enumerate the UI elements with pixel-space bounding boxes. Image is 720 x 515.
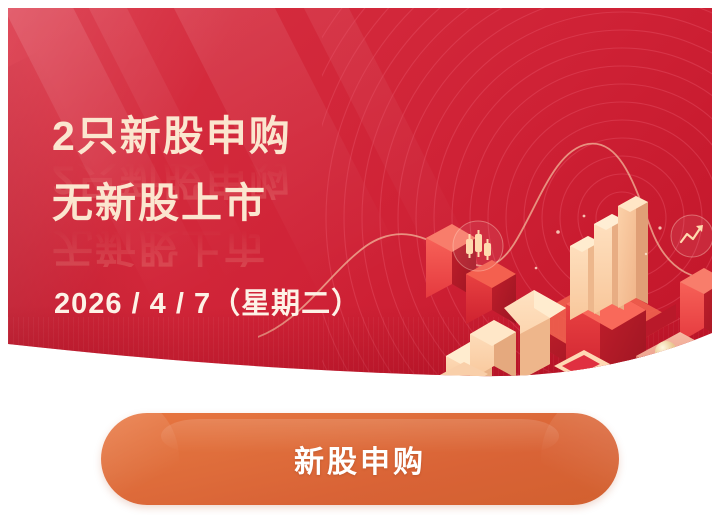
promo-banner-card: 2只新股申购 2只新股申购 无新股上市 无新股上市 2026 / 4 / 7（星…: [0, 0, 720, 515]
banner-background: 2只新股申购 2只新股申购 无新股上市 无新股上市 2026 / 4 / 7（星…: [8, 8, 712, 391]
coin-platform: [636, 332, 712, 390]
subscribe-new-stock-button[interactable]: 新股申购: [101, 413, 619, 505]
headline-line-2: 无新股上市 无新股上市: [52, 183, 472, 224]
subscribe-button-label: 新股申购: [101, 413, 619, 505]
headline-block: 2只新股申购 2只新股申购 无新股上市 无新股上市: [52, 116, 472, 224]
headline-line-1-text: 2只新股申购: [52, 113, 292, 159]
coin-1: [655, 341, 677, 363]
date-label: 2026 / 4 / 7（星期二）: [54, 280, 361, 322]
coin-2: [677, 353, 699, 375]
candlestick-badge-group: [453, 221, 503, 271]
headline-line-2-text: 无新股上市: [52, 180, 267, 226]
stair-steps: [438, 320, 516, 390]
right-buildings: [680, 268, 712, 342]
headline-line-1: 2只新股申购 2只新股申购: [52, 116, 472, 157]
trend-badge-group: [671, 215, 712, 257]
